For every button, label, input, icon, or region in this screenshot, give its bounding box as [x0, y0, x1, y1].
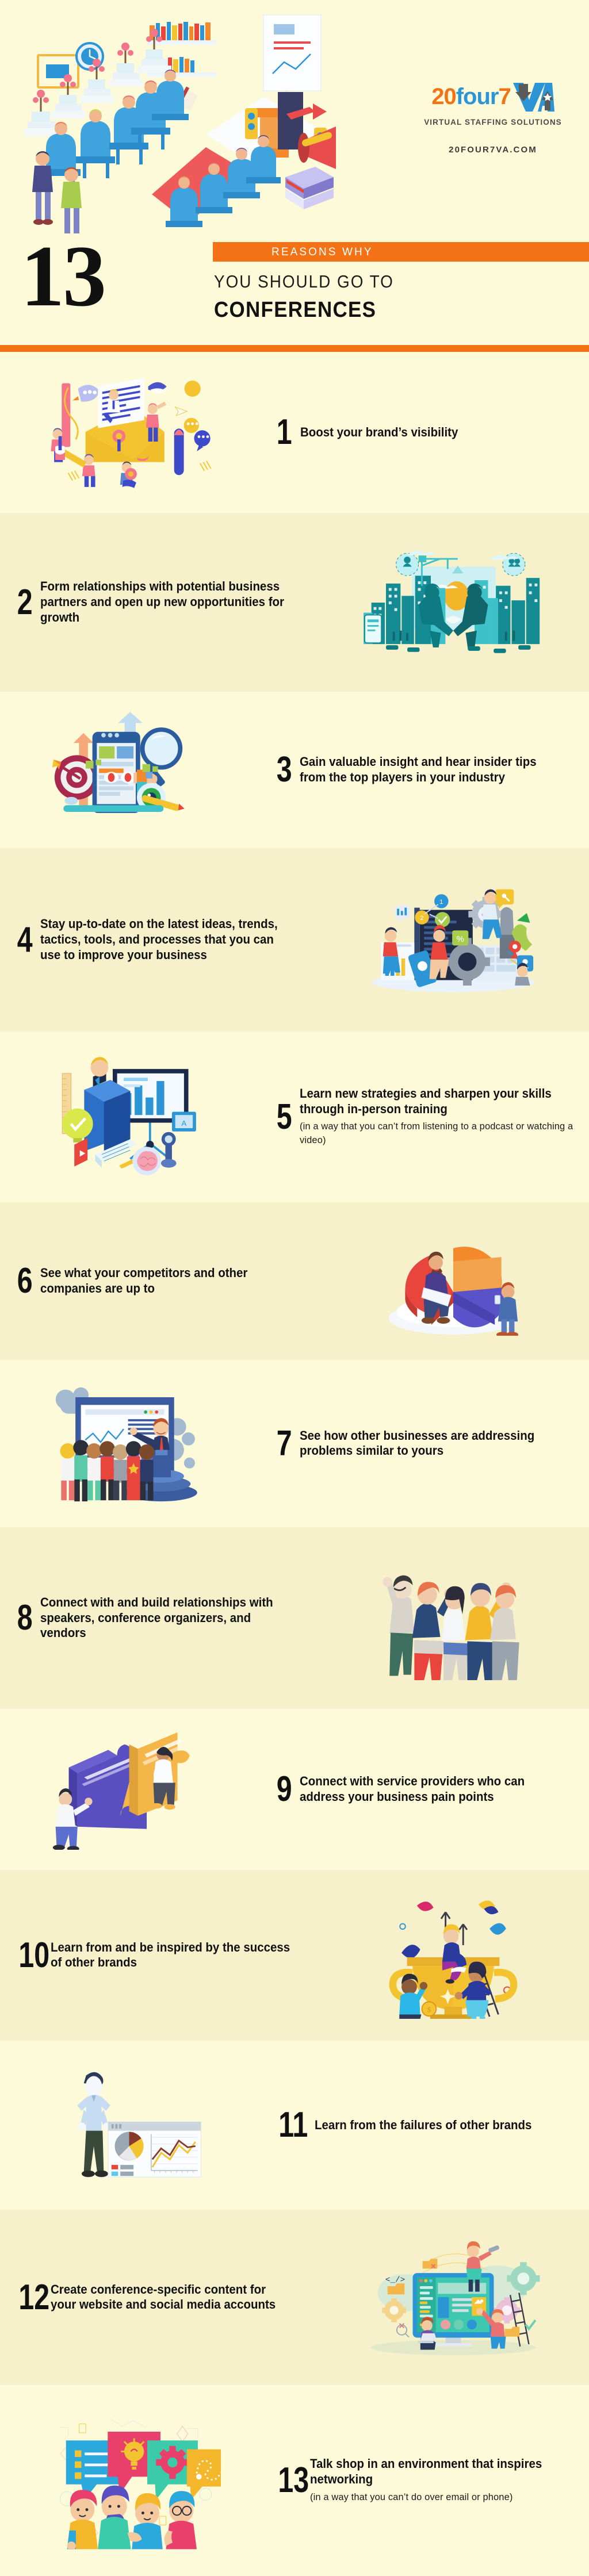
reason-text-block: 13Talk shop in an environment that inspi…	[271, 2456, 589, 2505]
reason-text: See how other businesses are addressing …	[300, 1428, 555, 1459]
reason-number: 6	[17, 1265, 33, 1297]
reason-text: Connect with and build relationships wit…	[40, 1595, 293, 1641]
reason-subtext: (in a way that you can’t from listening …	[300, 1120, 574, 1148]
person-3	[127, 2493, 162, 2549]
svg-text:%: %	[457, 934, 464, 944]
reason-number: 3	[277, 754, 292, 786]
title-line-2: YOU SHOULD GO TO	[214, 271, 394, 292]
reason-row: 12Create conference-specific content for…	[0, 2210, 589, 2385]
kicker-banner: REASONS WHY	[213, 242, 589, 262]
reason-text-block: 6See what your competitors and other com…	[0, 1265, 318, 1297]
reason-row: A 5Learn new strategies and sharpen your…	[0, 1032, 589, 1202]
reason-illustration-13	[0, 2385, 271, 2576]
reason-number: 4	[17, 924, 33, 956]
brand-tagline: VIRTUAL STAFFING SOLUTIONS	[415, 118, 571, 126]
reason-text-block: 12Create conference-specific content for…	[0, 2282, 318, 2314]
reason-text-block: 1Boost your brand’s visibility	[271, 416, 589, 448]
logo-text-20: 20	[431, 85, 456, 108]
reason-illustration-4: 1 2 %	[318, 848, 589, 1032]
books-stack-icon	[285, 167, 334, 209]
reason-row: 10Learn from and be inspired by the succ…	[0, 1870, 589, 2041]
page-title-number: 13	[21, 232, 105, 320]
reason-number: 9	[277, 1773, 292, 1805]
kicker-text: REASONS WHY	[271, 246, 373, 259]
reason-subtext: (in a way that you can’t do over email o…	[310, 2491, 574, 2505]
reason-text-block: 10Learn from and be inspired by the succ…	[0, 1939, 318, 1972]
svg-text:<_/>: <_/>	[385, 2275, 405, 2284]
reason-text: Learn from the failures of other brands	[315, 2118, 556, 2133]
reason-row: 9Connect with service providers who can …	[0, 1709, 589, 1870]
svg-text:1: 1	[440, 899, 443, 906]
reason-number: 8	[17, 1602, 33, 1634]
reason-illustration-5: A	[0, 1032, 271, 1202]
reason-text-block: 2Form relationships with potential busin…	[0, 579, 318, 625]
reason-illustration-9	[0, 1709, 271, 1870]
reason-text: Form relationships with potential busine…	[40, 579, 293, 625]
person-2	[98, 2486, 131, 2550]
svg-text:$: $	[427, 2006, 431, 2014]
reason-text: Connect with service providers who can a…	[300, 1774, 555, 1805]
svg-text:A: A	[181, 1119, 186, 1128]
reason-text-block: 4Stay up-to-date on the latest ideas, tr…	[0, 917, 318, 963]
reason-text: Gain valuable insight and hear insider t…	[300, 754, 555, 785]
reason-number: 13	[278, 2464, 304, 2497]
logo-text-7: 7	[499, 85, 511, 108]
reason-row: 7See how other businesses are addressing…	[0, 1360, 589, 1527]
orange-divider-rule	[0, 345, 589, 352]
person-1	[67, 2490, 97, 2550]
reason-row: 4Stay up-to-date on the latest ideas, tr…	[0, 848, 589, 1032]
svg-text:2: 2	[420, 915, 424, 922]
infographic-page: 20four7 VIRTUAL STAFFING SOLUTIONS 20FOU…	[0, 0, 589, 2576]
logo-text-four: four	[456, 85, 499, 108]
reason-number: 10	[18, 1939, 44, 1972]
reason-text-block: 3Gain valuable insight and hear insider …	[271, 754, 589, 786]
pie-chart	[114, 2132, 143, 2161]
reason-illustration-1	[0, 352, 271, 513]
title-line-3: CONFERENCES	[214, 298, 376, 323]
reason-text: Learn new strategies and sharpen your sk…	[300, 1086, 555, 1117]
presentation-screen	[263, 15, 321, 91]
logo-va-mark	[512, 80, 554, 113]
reason-row: 6See what your competitors and other com…	[0, 1202, 589, 1360]
reason-illustration-12: <_/>	[318, 2210, 589, 2385]
reason-illustration-11	[0, 2041, 271, 2210]
reason-row: 13Talk shop in an environment that inspi…	[0, 2385, 589, 2576]
reason-text: Stay up-to-date on the latest ideas, tre…	[40, 917, 293, 963]
reason-text: See what your competitors and other comp…	[40, 1266, 293, 1297]
hero-conference-illustration	[16, 5, 338, 235]
reason-text-block: 9Connect with service providers who can …	[271, 1773, 589, 1805]
reason-text-block: 11Learn from the failures of other brand…	[271, 2109, 589, 2141]
reason-text-block: 8Connect with and build relationships wi…	[0, 1595, 318, 1641]
header: 20four7 VIRTUAL STAFFING SOLUTIONS 20FOU…	[0, 0, 589, 236]
reason-row: 3Gain valuable insight and hear insider …	[0, 692, 589, 848]
reason-number: 2	[17, 586, 33, 619]
ladder-right	[511, 2293, 529, 2346]
brand-block: 20four7 VIRTUAL STAFFING SOLUTIONS 20FOU…	[415, 80, 571, 155]
brand-logo[interactable]: 20four7	[415, 80, 571, 113]
brand-website[interactable]: 20FOUR7VA.COM	[415, 145, 571, 155]
reason-text-block: 7See how other businesses are addressing…	[271, 1428, 589, 1460]
reason-text: Talk shop in an environment that inspire…	[310, 2456, 556, 2487]
reason-row: 1Boost your brand’s visibility	[0, 352, 589, 513]
reason-number: 7	[277, 1428, 292, 1460]
reason-text: Learn from and be inspired by the succes…	[51, 1940, 294, 1971]
reason-illustration-6	[318, 1202, 589, 1360]
reason-number: 11	[278, 2109, 308, 2141]
reason-row: 8Connect with and build relationships wi…	[0, 1527, 589, 1709]
reason-number: 12	[18, 2282, 44, 2314]
reason-number: 5	[277, 1101, 292, 1133]
reason-row: 11Learn from the failures of other brand…	[0, 2041, 589, 2210]
person-4	[164, 2491, 197, 2549]
reason-text: Create conference-specific content for y…	[51, 2282, 294, 2313]
reason-illustration-3	[0, 692, 271, 848]
reason-number: 1	[277, 416, 292, 448]
reason-illustration-2	[318, 513, 589, 692]
reason-illustration-10: $	[318, 1870, 589, 2041]
reason-text-block: 5Learn new strategies and sharpen your s…	[271, 1086, 589, 1148]
reason-text: Boost your brand’s visibility	[300, 425, 555, 440]
reason-row: 2Form relationships with potential busin…	[0, 513, 589, 692]
reason-illustration-8	[318, 1527, 589, 1709]
reason-illustration-7	[0, 1360, 271, 1527]
standing-man	[77, 2072, 111, 2178]
